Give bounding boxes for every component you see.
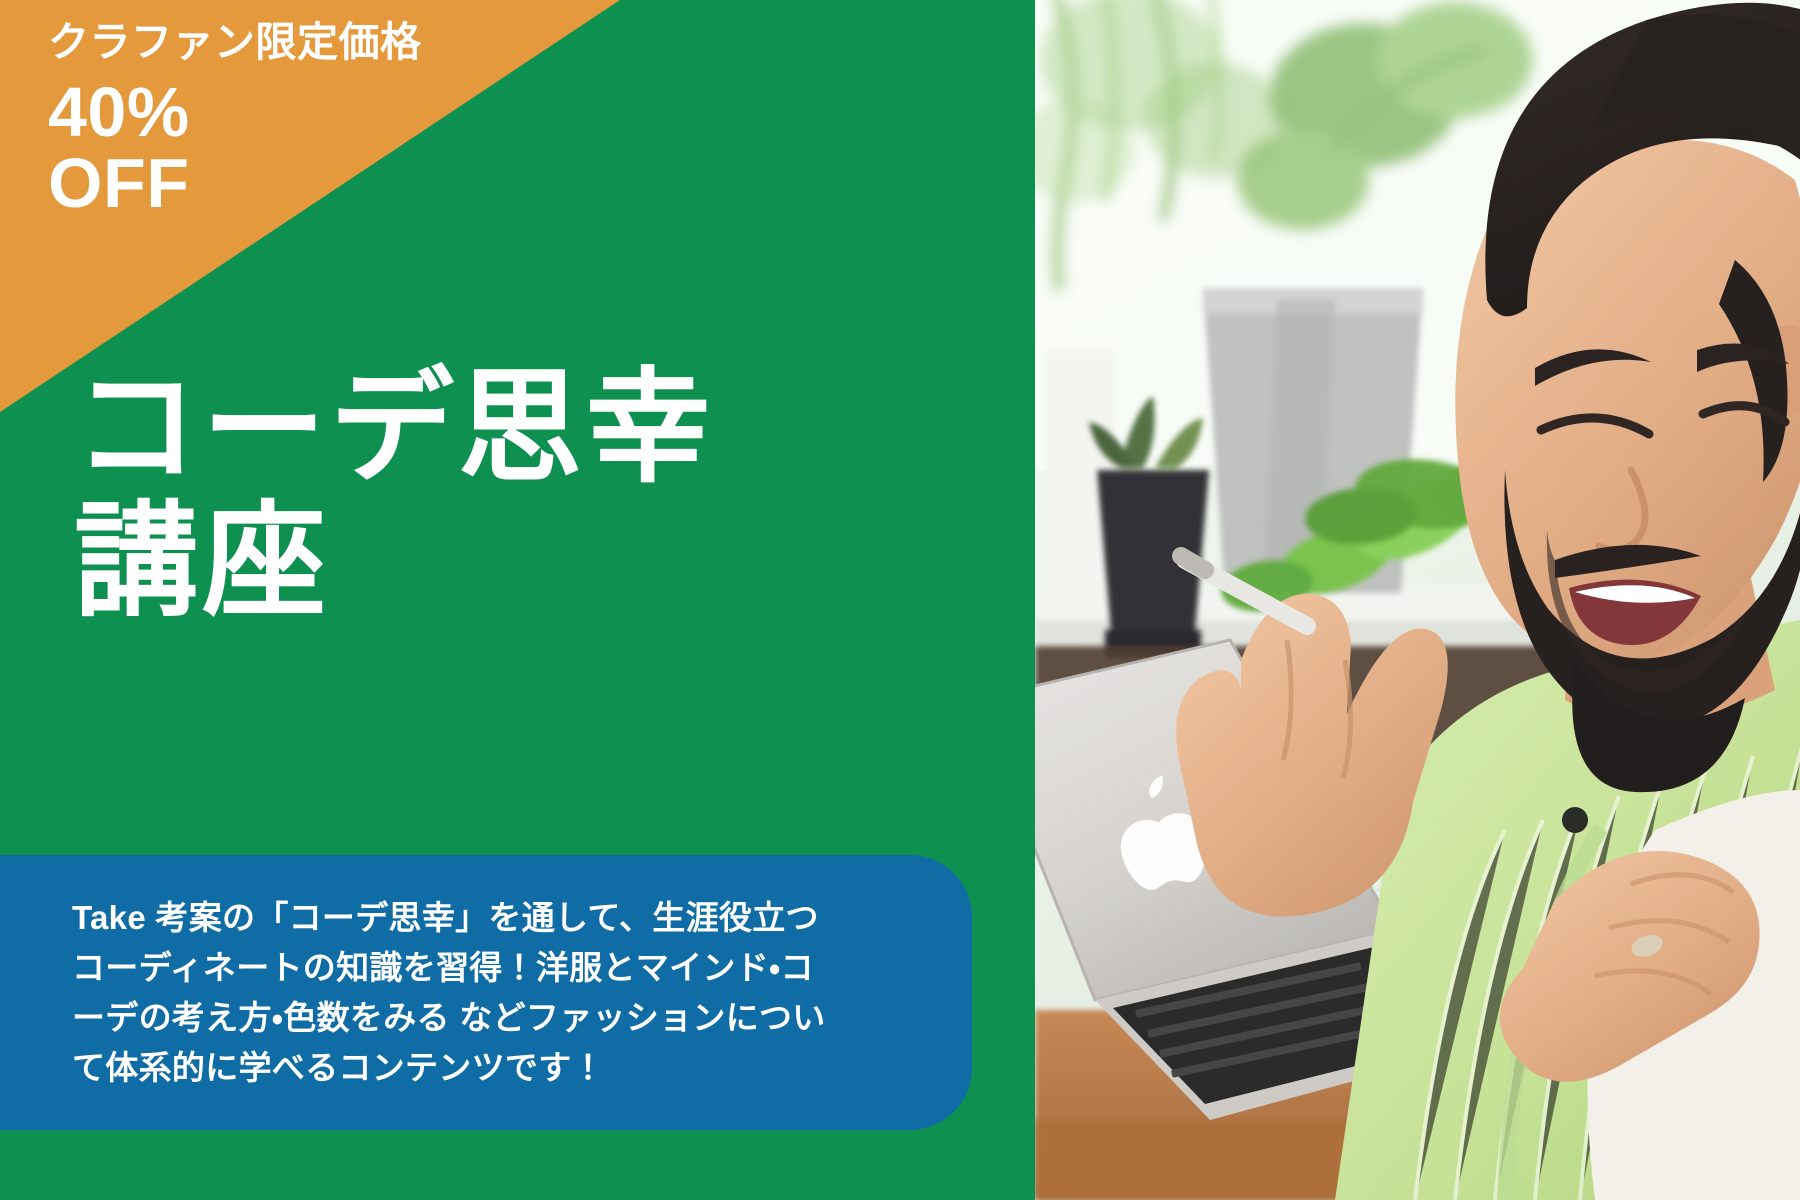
description-line-2: コーディネートの知識を習得！洋服とマインド・コ [72, 943, 912, 993]
hero-photo [1035, 0, 1800, 1200]
description-card: Take 考案の「コーデ思幸」を通して、生涯役立つ コーディネートの知識を習得！… [0, 855, 972, 1130]
ribbon-kicker-label: クラファン限定価格 [48, 22, 422, 63]
page-title-line-2: 講座 [74, 496, 714, 630]
discount-percent-label: 40% [48, 77, 422, 148]
promo-banner: クラファン限定価格 40% OFF コーデ思幸 講座 Take 考案の「コーデ思… [0, 0, 1800, 1200]
page-title-line-1: コーデ思幸 [74, 362, 714, 496]
description-line-1: Take 考案の「コーデ思幸」を通して、生涯役立つ [72, 893, 912, 943]
discount-ribbon-text: クラファン限定価格 40% OFF [48, 22, 422, 220]
discount-off-label: OFF [48, 148, 422, 219]
page-title: コーデ思幸 講座 [74, 362, 714, 630]
description-line-3: ーデの考え方・色数をみる などファッションについ [72, 993, 912, 1043]
description-line-4: て体系的に学べるコンテンツです！ [72, 1043, 912, 1093]
